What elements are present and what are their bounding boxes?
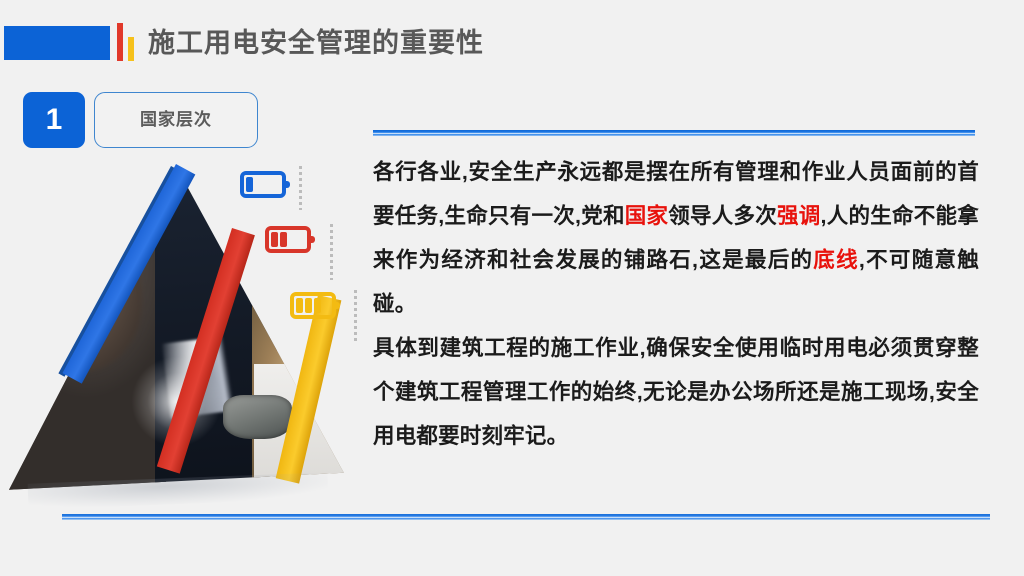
para1-highlight-dixian: 底线 (813, 248, 859, 272)
battery-cell (305, 298, 312, 313)
para1-highlight-guojia: 国家 (625, 204, 669, 228)
triangle-photo-collage (0, 0, 400, 360)
photo-device-object (223, 395, 291, 439)
dotted-connector-2 (330, 224, 333, 280)
dotted-connector-1 (299, 166, 302, 210)
battery-full-icon (290, 292, 336, 319)
battery-low-cells (246, 177, 253, 192)
body-text-block: 各行各业,安全生产永远都是摆在所有管理和作业人员面前的首要任务,生命只有一次,党… (373, 150, 979, 458)
slide-bottom-divider (62, 514, 990, 520)
paragraph-two: 具体到建筑工程的施工作业,确保安全使用临时用电必须贯穿整个建筑工程管理工作的始终… (373, 326, 979, 458)
battery-cell (280, 232, 287, 247)
battery-medium-icon (265, 226, 311, 253)
content-top-divider (373, 130, 975, 136)
battery-cell (271, 232, 278, 247)
para1-highlight-qiangdiao: 强调 (777, 204, 821, 228)
paragraph-one: 各行各业,安全生产永远都是摆在所有管理和作业人员面前的首要任务,生命只有一次,党… (373, 150, 979, 326)
slide-canvas: 施工用电安全管理的重要性 1 国家层次 (0, 0, 1024, 576)
para1-part2: 领导人多次 (668, 204, 777, 228)
battery-medium-cells (271, 232, 287, 247)
battery-low-icon (240, 171, 286, 198)
battery-cell (314, 298, 321, 313)
battery-cell (246, 177, 253, 192)
dotted-connector-3 (354, 290, 357, 342)
battery-full-cells (296, 298, 321, 313)
battery-cell (296, 298, 303, 313)
